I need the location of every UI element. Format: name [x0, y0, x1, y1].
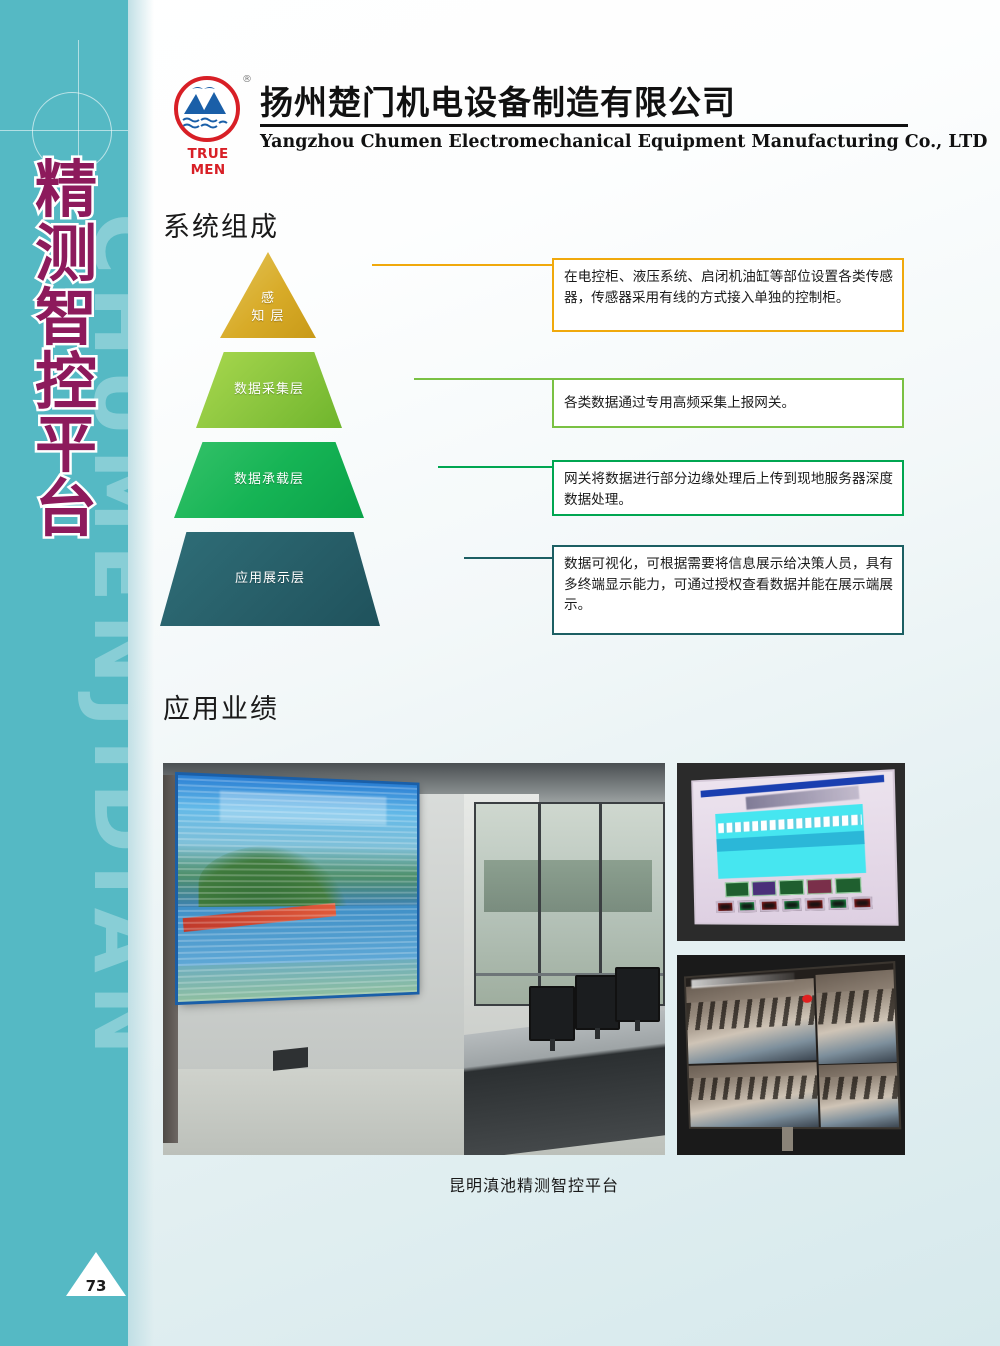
connector-line-application-display — [464, 557, 554, 559]
cctv-record-indicator-icon — [801, 994, 812, 1002]
sidebar-title-char-4: 控 — [35, 350, 97, 414]
sidebar-title-char-5: 平 — [35, 413, 97, 477]
registered-trademark-icon: ® — [242, 74, 252, 85]
company-name-chinese: 扬州楚门机电设备制造有限公司 — [260, 76, 736, 124]
pyramid-label-perception: 感 知 层 — [251, 290, 284, 325]
photo-cctv-video-wall — [677, 955, 905, 1155]
led-scanline-overlay — [178, 775, 417, 1002]
logo-emblem-icon — [174, 76, 240, 142]
hmi-readout-2 — [738, 901, 757, 913]
connector-line-perception — [372, 264, 554, 266]
page-header: ® TRUE MEN 扬州楚门机电设备制造有限公司 Yangzhou Chume… — [168, 72, 908, 172]
hmi-readout-3 — [760, 900, 779, 912]
sidebar-vertical-title: 精 测 智 控 平 台 — [26, 158, 106, 541]
info-box-application-display: 数据可视化，可根据需要将信息展示给决策人员，具有多终端显示能力，可通过授权查看数… — [552, 545, 904, 635]
sidebar-title-char-6: 台 — [35, 477, 97, 541]
pyramid-layer-application-display: 应用展示层 — [160, 532, 380, 626]
gallery-caption: 昆明滇池精测智控平台 — [163, 1172, 905, 1196]
wall-vent — [273, 1047, 308, 1070]
hmi-button-1 — [726, 882, 750, 897]
page-number: 73 — [66, 1277, 126, 1295]
logo-wordmark: TRUE MEN — [168, 146, 248, 178]
hmi-readout-5 — [805, 899, 825, 911]
company-logo: ® TRUE MEN — [168, 74, 252, 170]
control-room-scene — [163, 763, 665, 1155]
cctv-wall-scene — [677, 955, 905, 1155]
room-door-jamb — [163, 775, 178, 1143]
hmi-readout-row — [717, 897, 873, 913]
hmi-readout-1 — [717, 901, 735, 913]
photo-hmi-gate-monitoring-screen — [677, 763, 905, 941]
cctv-tile-1 — [686, 978, 817, 1064]
pyramid-layer-data-collection: 数据采集层 — [196, 352, 342, 428]
sidebar-title-char-2: 测 — [35, 222, 97, 286]
info-box-data-carrying: 网关将数据进行部分边缘处理后上传到现地服务器深度数据处理。 — [552, 460, 904, 516]
hmi-readout-7 — [852, 897, 873, 910]
left-sidebar: CHUMENJIDIAN 精 测 智 控 平 台 73 — [0, 0, 128, 1346]
hmi-panel — [692, 770, 900, 926]
pyramid-layer-perception: 感 知 层 — [220, 252, 316, 338]
company-name-english: Yangzhou Chumen Electromechanical Equipm… — [260, 132, 987, 152]
pyramid-label-data-carrying: 数据承载层 — [234, 471, 304, 489]
sidebar-title-char-3: 智 — [35, 286, 97, 350]
pyramid-label-data-collection: 数据采集层 — [234, 381, 304, 399]
info-box-perception: 在电控柜、液压系统、启闭机油缸等部位设置各类传感器，传感器采用有线的方式接入单独… — [552, 258, 904, 332]
cctv-wall-stand — [782, 1127, 793, 1151]
cctv-tile-4 — [819, 1063, 899, 1127]
cctv-tile-2 — [815, 970, 896, 1064]
pyramid-label-application-display: 应用展示层 — [235, 570, 305, 588]
desk-monitor-1 — [529, 986, 574, 1041]
connector-line-data-collection — [414, 378, 554, 380]
hmi-readout-6 — [829, 898, 849, 910]
photo-gallery — [163, 763, 905, 1155]
header-divider — [260, 124, 908, 127]
hmi-button-3 — [779, 880, 804, 895]
photo-control-room-led-wall — [163, 763, 665, 1155]
info-box-data-collection: 各类数据通过专用高频采集上报网关。 — [552, 378, 904, 428]
cctv-display-wall — [685, 963, 898, 1127]
hmi-readout-4 — [783, 899, 802, 911]
mountain-bird-waves-icon — [178, 80, 236, 138]
hmi-button-4 — [807, 879, 833, 895]
pyramid-layer-data-carrying: 数据承载层 — [174, 442, 364, 518]
pyramid-label-perception-line1: 感 — [261, 291, 275, 306]
desk-monitor-3 — [615, 967, 660, 1022]
led-video-wall — [178, 775, 417, 1002]
hmi-button-row — [726, 878, 863, 897]
section-title-system-composition: 系统组成 — [163, 205, 279, 244]
window-view-hillside — [484, 860, 652, 912]
system-layer-pyramid: 感 知 层 数据采集层 数据承载层 应用展示层 — [160, 252, 380, 642]
sidebar-title-char-1: 精 — [35, 158, 97, 222]
hmi-screen-scene — [677, 763, 905, 941]
connector-line-data-carrying — [438, 466, 554, 468]
hmi-button-5 — [835, 878, 862, 894]
cctv-tile-3 — [688, 1062, 818, 1127]
sidebar-edge-fade — [128, 0, 154, 1346]
desk-monitor-2 — [575, 975, 620, 1030]
section-title-application-results: 应用业绩 — [163, 687, 279, 726]
pyramid-label-perception-line2: 知 层 — [251, 309, 284, 324]
hmi-button-2 — [752, 881, 777, 896]
